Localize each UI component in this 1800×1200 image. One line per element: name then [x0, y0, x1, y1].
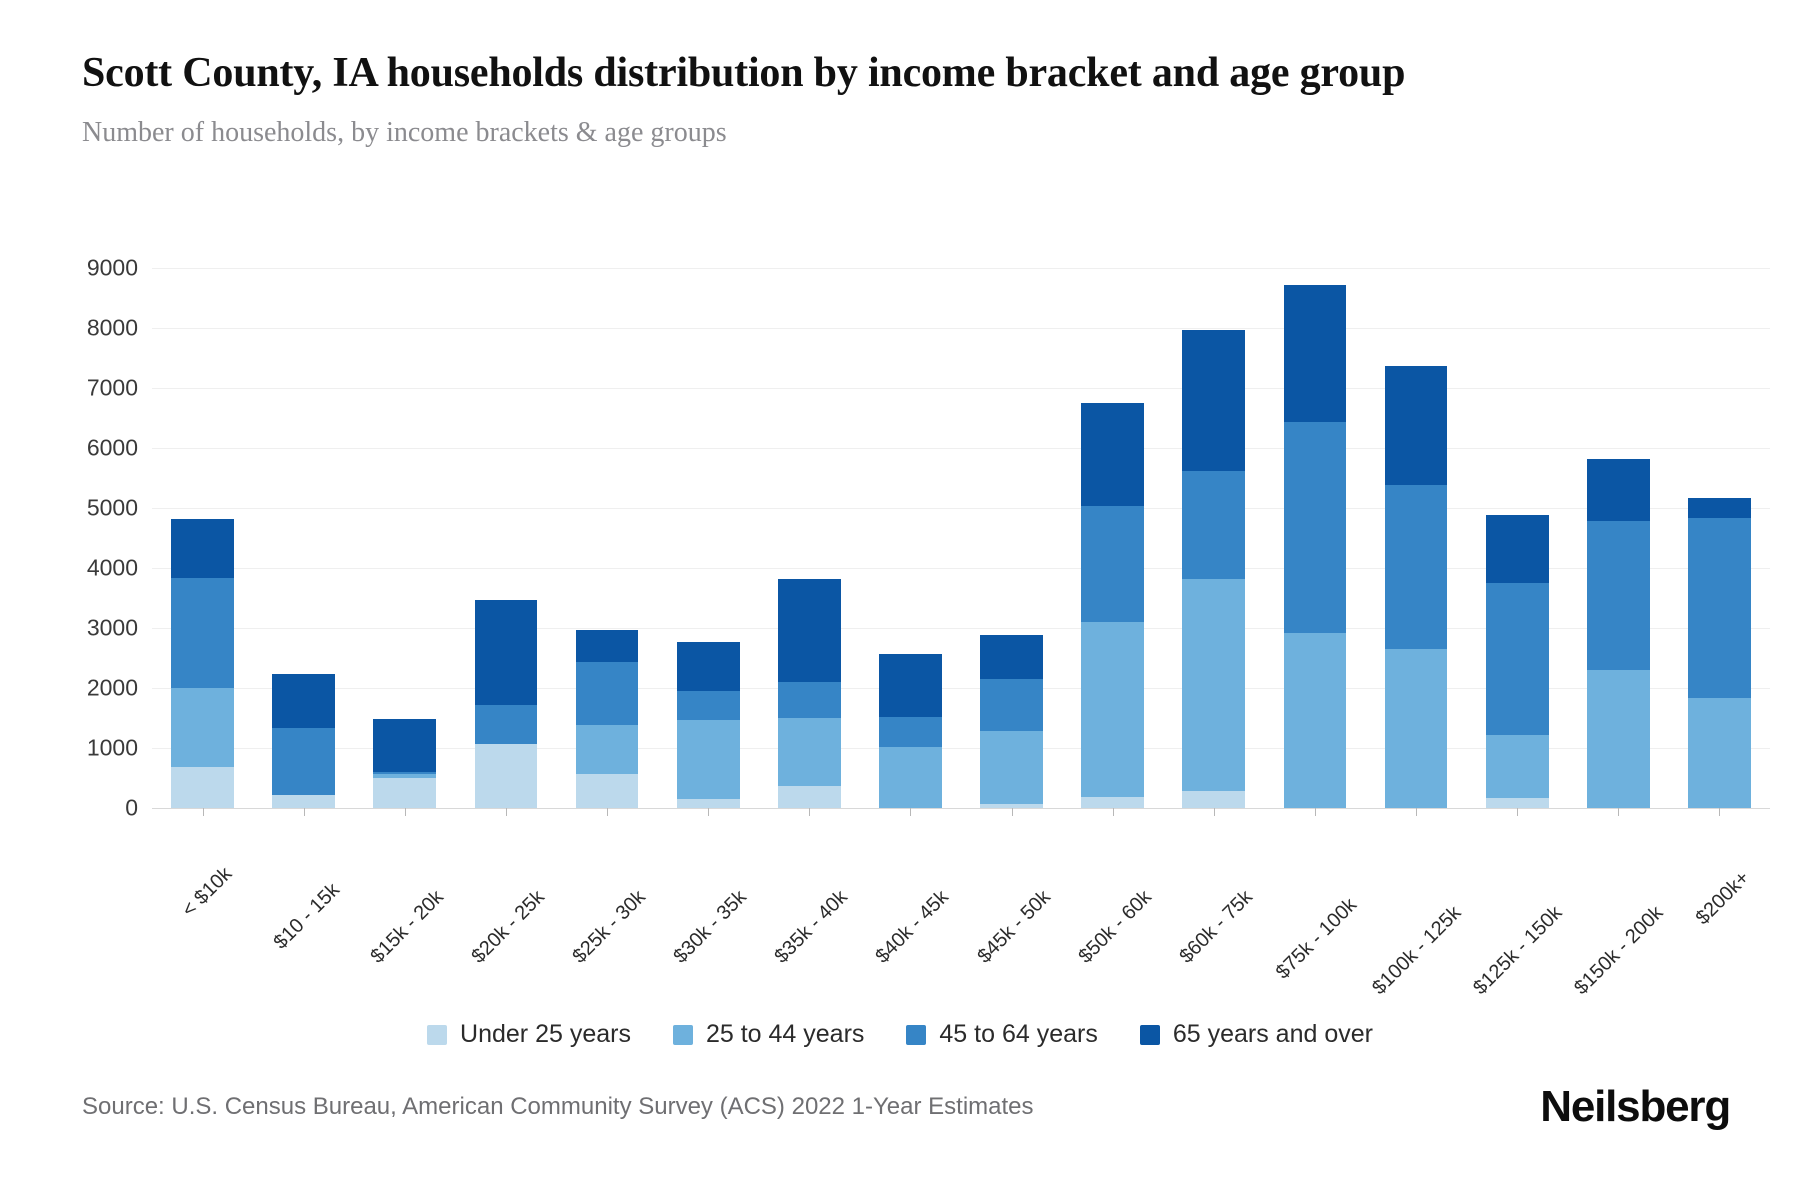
x-axis-tick-label: $125k - 150k — [1469, 902, 1567, 1000]
x-axis-tick — [1517, 808, 1518, 816]
legend-item[interactable]: 65 years and over — [1140, 1020, 1373, 1049]
bar-series-group — [152, 268, 1770, 808]
bar-segment[interactable] — [1081, 506, 1144, 622]
x-axis-label-cell: $20k - 25k — [455, 816, 556, 946]
bar-stack — [879, 654, 942, 808]
x-axis-label-cell: $150k - 200k — [1568, 816, 1669, 946]
bar-segment[interactable] — [677, 799, 740, 808]
x-axis-label-cell: $25k - 30k — [557, 816, 658, 946]
x-axis-tick — [910, 808, 911, 816]
legend-swatch-icon — [427, 1025, 447, 1045]
x-axis-tick-label: $150k - 200k — [1570, 902, 1668, 1000]
bar-column[interactable] — [1264, 268, 1365, 808]
bar-segment[interactable] — [1688, 498, 1751, 518]
legend-label: 25 to 44 years — [706, 1020, 864, 1049]
bar-segment[interactable] — [171, 688, 234, 767]
bar-segment[interactable] — [373, 778, 436, 808]
bar-segment[interactable] — [1486, 735, 1549, 798]
bar-segment[interactable] — [1587, 670, 1650, 808]
bar-segment[interactable] — [1486, 515, 1549, 583]
x-axis-label-cell: $60k - 75k — [1163, 816, 1264, 946]
x-axis-label-cell: $75k - 100k — [1264, 816, 1365, 946]
y-axis-tick-label: 8000 — [87, 315, 138, 342]
y-axis-tick-label: 3000 — [87, 615, 138, 642]
x-axis-tick-label: $35k - 40k — [771, 886, 853, 968]
legend-label: 65 years and over — [1173, 1020, 1373, 1049]
bar-segment[interactable] — [1081, 403, 1144, 506]
y-axis-tick-label: 4000 — [87, 555, 138, 582]
bar-segment[interactable] — [1081, 622, 1144, 797]
x-axis-tick — [708, 808, 709, 816]
plot-area: 0100020003000400050006000700080009000 — [0, 268, 1800, 828]
x-axis-tick-label: < $10k — [177, 863, 236, 922]
bar-column[interactable] — [1366, 268, 1467, 808]
bar-segment[interactable] — [980, 635, 1043, 679]
bar-column[interactable] — [1062, 268, 1163, 808]
x-axis-tick — [1113, 808, 1114, 816]
bar-stack — [778, 579, 841, 808]
bar-column[interactable] — [253, 268, 354, 808]
y-axis-tick-label: 7000 — [87, 375, 138, 402]
x-axis-tick-label: $200k+ — [1692, 867, 1755, 930]
bar-segment[interactable] — [1587, 459, 1650, 521]
bar-column[interactable] — [1163, 268, 1264, 808]
bar-stack — [475, 600, 538, 808]
bar-column[interactable] — [354, 268, 455, 808]
bar-segment[interactable] — [272, 728, 335, 796]
y-axis-tick-label: 2000 — [87, 675, 138, 702]
bar-stack — [1385, 366, 1448, 808]
y-axis-tick-label: 0 — [125, 795, 138, 822]
bar-column[interactable] — [759, 268, 860, 808]
bar-segment[interactable] — [879, 654, 942, 718]
x-axis-tick — [1719, 808, 1720, 816]
x-axis-tick-label: $10 - 15k — [269, 879, 344, 954]
x-axis-tick — [203, 808, 204, 816]
y-axis: 0100020003000400050006000700080009000 — [0, 268, 152, 808]
x-axis-label-cell: $100k - 125k — [1366, 816, 1467, 946]
bar-segment[interactable] — [576, 662, 639, 726]
chart-footer: Source: U.S. Census Bureau, American Com… — [82, 1082, 1730, 1132]
legend-label: Under 25 years — [460, 1020, 631, 1049]
x-axis-tick-label: $75k - 100k — [1272, 894, 1362, 984]
x-axis-tick — [1315, 808, 1316, 816]
bar-segment[interactable] — [778, 718, 841, 786]
bar-segment[interactable] — [475, 600, 538, 705]
bar-segment[interactable] — [1284, 285, 1347, 422]
bar-segment[interactable] — [475, 744, 538, 808]
bar-stack — [373, 719, 436, 808]
bar-stack — [1587, 459, 1650, 808]
x-axis-tick — [1214, 808, 1215, 816]
bar-stack — [980, 635, 1043, 808]
bar-segment[interactable] — [778, 579, 841, 682]
x-axis-label-cell: $50k - 60k — [1062, 816, 1163, 946]
x-axis-tick-label: $100k - 125k — [1368, 902, 1466, 1000]
bar-column[interactable] — [152, 268, 253, 808]
bar-segment[interactable] — [1182, 330, 1245, 470]
x-axis-tick — [1416, 808, 1417, 816]
bar-stack — [677, 642, 740, 808]
bar-segment[interactable] — [980, 679, 1043, 731]
x-axis-tick — [1618, 808, 1619, 816]
bar-segment[interactable] — [1385, 485, 1448, 649]
bar-segment[interactable] — [1081, 797, 1144, 808]
bar-segment[interactable] — [1385, 649, 1448, 808]
bar-segment[interactable] — [1182, 471, 1245, 579]
x-axis-label-cell: $30k - 35k — [658, 816, 759, 946]
legend-swatch-icon — [906, 1025, 926, 1045]
bar-segment[interactable] — [171, 767, 234, 808]
bar-segment[interactable] — [980, 731, 1043, 804]
bar-segment[interactable] — [373, 719, 436, 772]
x-axis-tick — [1012, 808, 1013, 816]
bar-segment[interactable] — [475, 705, 538, 745]
x-axis-baseline — [152, 808, 1770, 809]
bar-stack — [1486, 515, 1549, 808]
bar-column[interactable] — [860, 268, 961, 808]
bar-segment[interactable] — [576, 774, 639, 808]
bar-segment[interactable] — [1688, 518, 1751, 699]
legend-label: 45 to 64 years — [939, 1020, 1097, 1049]
bar-stack — [171, 519, 234, 808]
bar-segment[interactable] — [576, 725, 639, 774]
source-note: Source: U.S. Census Bureau, American Com… — [82, 1093, 1034, 1121]
x-axis-label-cell: $200k+ — [1669, 816, 1770, 946]
legend-item[interactable]: 45 to 64 years — [906, 1020, 1097, 1049]
bar-segment[interactable] — [1284, 422, 1347, 633]
legend-item[interactable]: Under 25 years — [427, 1020, 631, 1049]
bar-segment[interactable] — [1486, 583, 1549, 735]
x-axis-tick — [405, 808, 406, 816]
x-axis-tick-label: $60k - 75k — [1175, 886, 1257, 968]
bar-segment[interactable] — [1587, 521, 1650, 670]
x-axis-tick — [304, 808, 305, 816]
x-axis-label-cell: $15k - 20k — [354, 816, 455, 946]
x-axis-tick — [607, 808, 608, 816]
bar-stack — [1081, 403, 1144, 808]
bar-segment[interactable] — [1486, 798, 1549, 808]
x-axis-tick-label: $25k - 30k — [568, 886, 650, 968]
bar-segment[interactable] — [171, 519, 234, 578]
bar-column[interactable] — [658, 268, 759, 808]
x-axis-tick — [506, 808, 507, 816]
y-axis-tick-label: 6000 — [87, 435, 138, 462]
neilsberg-logo: Neilsberg — [1540, 1082, 1730, 1132]
bar-column[interactable] — [1669, 268, 1770, 808]
legend-swatch-icon — [1140, 1025, 1160, 1045]
bar-segment[interactable] — [1385, 366, 1448, 484]
x-axis-label-cell: < $10k — [152, 816, 253, 946]
page-title: Scott County, IA households distribution… — [82, 48, 1652, 99]
chart-legend: Under 25 years25 to 44 years45 to 64 yea… — [0, 1020, 1800, 1049]
bar-segment[interactable] — [171, 578, 234, 688]
x-axis-tick-label: $30k - 35k — [670, 886, 752, 968]
y-axis-tick-label: 5000 — [87, 495, 138, 522]
bar-segment[interactable] — [1284, 633, 1347, 808]
bar-segment[interactable] — [879, 717, 942, 746]
bar-segment[interactable] — [677, 642, 740, 691]
bar-column[interactable] — [455, 268, 556, 808]
bar-column[interactable] — [557, 268, 658, 808]
chart-header: Scott County, IA households distribution… — [82, 48, 1682, 152]
bar-segment[interactable] — [1182, 791, 1245, 808]
x-axis-tick-label: $40k - 45k — [872, 886, 954, 968]
x-axis-labels: < $10k$10 - 15k$15k - 20k$20k - 25k$25k … — [152, 816, 1770, 946]
x-axis-label-cell: $35k - 40k — [759, 816, 860, 946]
x-axis-tick-label: $45k - 50k — [973, 886, 1055, 968]
bar-stack — [1284, 285, 1347, 808]
chart-subtitle: Number of households, by income brackets… — [82, 115, 1682, 151]
bar-column[interactable] — [1467, 268, 1568, 808]
bar-segment[interactable] — [879, 747, 942, 808]
bar-stack — [272, 674, 335, 808]
y-axis-tick-label: 9000 — [87, 255, 138, 282]
x-axis-label-cell: $10 - 15k — [253, 816, 354, 946]
bar-stack — [1688, 498, 1751, 808]
bar-segment[interactable] — [677, 691, 740, 720]
legend-item[interactable]: 25 to 44 years — [673, 1020, 864, 1049]
bar-segment[interactable] — [272, 674, 335, 727]
x-axis-label-cell: $125k - 150k — [1467, 816, 1568, 946]
bar-stack — [1182, 330, 1245, 808]
x-axis-tick-label: $50k - 60k — [1074, 886, 1156, 968]
bar-segment[interactable] — [576, 630, 639, 662]
bar-segment[interactable] — [778, 786, 841, 808]
bar-segment[interactable] — [1182, 579, 1245, 791]
x-axis-tick-label: $15k - 20k — [366, 886, 448, 968]
y-axis-tick-label: 1000 — [87, 735, 138, 762]
bar-segment[interactable] — [272, 795, 335, 808]
x-axis-label-cell: $45k - 50k — [961, 816, 1062, 946]
bar-segment[interactable] — [778, 682, 841, 718]
bar-segment[interactable] — [1688, 698, 1751, 808]
legend-swatch-icon — [673, 1025, 693, 1045]
chart-page: Scott County, IA households distribution… — [0, 0, 1800, 1200]
bar-stack — [576, 630, 639, 808]
bar-segment[interactable] — [677, 720, 740, 799]
x-axis-tick — [809, 808, 810, 816]
x-axis-label-cell: $40k - 45k — [860, 816, 961, 946]
bar-column[interactable] — [1568, 268, 1669, 808]
x-axis-tick-label: $20k - 25k — [467, 886, 549, 968]
bar-column[interactable] — [961, 268, 1062, 808]
